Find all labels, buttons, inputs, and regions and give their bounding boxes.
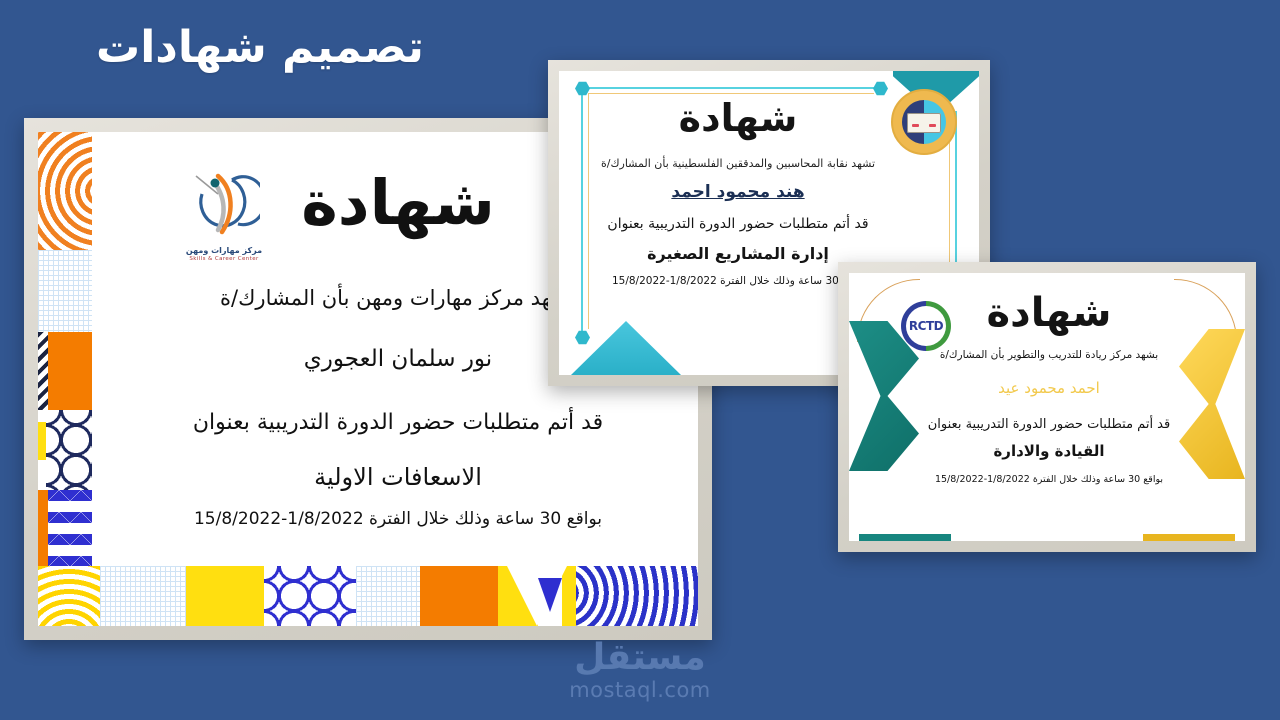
pattern-block-orange-waves [38, 132, 92, 250]
pattern-block-dot-grid-3 [356, 566, 420, 626]
pattern-block-blue-triangle [538, 566, 562, 626]
certificate-recipient-name: احمد محمود عيد [919, 379, 1179, 397]
certificate-completion-line: قد أتم متطلبات حضور الدورة التدريبية بعن… [98, 410, 698, 435]
pattern-block-blue-waves [576, 566, 698, 626]
certificate-body: شهادة بشهد مركز ريادة للتدريب والتطوير ب… [919, 287, 1179, 485]
decorative-pattern-row-bottom [38, 566, 698, 626]
pattern-block-yellow-waves-2 [38, 566, 100, 626]
pattern-block-orange-strip [38, 490, 48, 570]
pattern-block-solid-yellow [186, 566, 264, 626]
pattern-block-dot-grid-2 [100, 566, 186, 626]
page-title: تصميم شهادات [96, 22, 424, 73]
pattern-block-solid-orange [48, 332, 92, 410]
certificate-completion-line: قد أتم متطلبات حضور الدورة التدريبية بعن… [919, 417, 1179, 432]
pattern-block-circle-lattice [46, 410, 92, 490]
certificate-duration-line: بواقع 30 ساعة وذلك خلال الفترة 1/8/2022-… [919, 474, 1179, 485]
watermark-arabic: مستقل [524, 640, 756, 676]
hexagon-dot-icon-bottom-left [575, 330, 590, 345]
pattern-block-blue-chevrons [48, 490, 92, 570]
decorative-triangle-bottom-left [571, 321, 681, 375]
pattern-block-yellow-strip [38, 422, 46, 460]
pattern-block-blue-lattice [264, 566, 356, 626]
accountants-syndicate-seal-icon [891, 89, 957, 155]
decorative-chevron-gold [1179, 329, 1245, 479]
certificate-recipient-name: هند محمود احمد [593, 182, 883, 202]
decorative-bar-teal [859, 534, 951, 541]
certificate-body: شهادة تشهد نقابة المحاسبين والمدققين الف… [593, 91, 883, 287]
decorative-line-left-gold [588, 93, 589, 329]
certificate-heading: شهادة [593, 99, 883, 137]
pattern-block-dot-grid [38, 250, 92, 332]
decorative-pattern-column-left [38, 132, 92, 626]
decorative-bar-gold [1143, 534, 1235, 541]
certificate-course-title: القيادة والادارة [919, 442, 1179, 460]
certificate-card-riyada-center[interactable]: RCTD شهادة بشهد مركز ريادة للتدريب والتط… [838, 262, 1256, 552]
certificate-course-title: إدارة المشاريع الصغيرة [593, 244, 883, 263]
pattern-block-solid-orange-2 [420, 566, 498, 626]
watermark-latin: mostaql.com [524, 678, 756, 702]
certificate-paper: RCTD شهادة بشهد مركز ريادة للتدريب والتط… [849, 273, 1245, 541]
certificate-issuer-line: بشهد مركز ريادة للتدريب والتطوير بأن الم… [919, 349, 1179, 361]
decorative-line-left [581, 87, 583, 337]
certificate-completion-line: قد أتم متطلبات حضور الدورة التدريبية بعن… [593, 216, 883, 232]
decorative-line-top [581, 87, 881, 89]
certificate-heading: شهادة [919, 293, 1179, 333]
certificate-duration-line: بواقع 30 ساعة وذلك خلال الفترة 1/8/2022-… [98, 509, 698, 529]
mostaql-watermark: مستقل mostaql.com [524, 640, 756, 702]
pattern-block-yellow-triangle [498, 566, 576, 626]
certificate-course-title: الاسعافات الاولية [98, 463, 698, 491]
pattern-block-diagonal-stripes [38, 332, 48, 410]
seal-book-icon [907, 113, 941, 133]
certificate-issuer-line: تشهد نقابة المحاسبين والمدققين الفلسطيني… [593, 157, 883, 170]
